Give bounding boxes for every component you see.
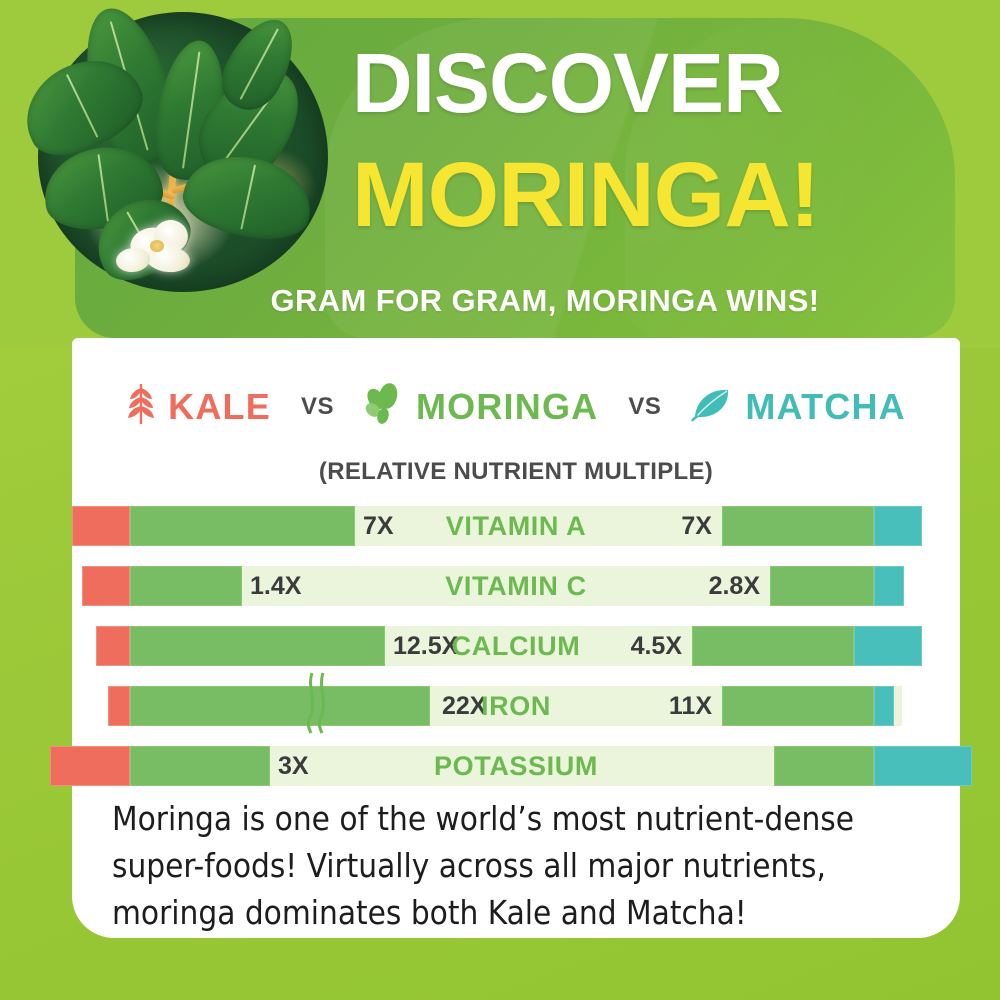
matcha-bar xyxy=(874,506,922,546)
brand-moringa-label: MORINGA xyxy=(416,386,598,428)
moringa-right-bar xyxy=(770,566,874,606)
kale-bar xyxy=(108,686,130,726)
footer-paragraph: Moringa is one of the world’s most nutri… xyxy=(112,796,922,937)
flower-center xyxy=(150,240,164,252)
moringa-right-bar xyxy=(692,626,854,666)
brand-comparison-row: KALE VS MORINGA VS xyxy=(72,382,960,431)
page-title-line2: MORINGA! xyxy=(352,152,819,239)
brand-matcha: MATCHA xyxy=(691,385,906,428)
right-multiple-label: 2.8X xyxy=(610,566,770,606)
kale-leaf-icon xyxy=(126,382,156,431)
chart-row: 22X IRON 11X xyxy=(72,680,960,732)
matcha-bar xyxy=(874,746,972,786)
chart-row: 3X POTASSIUM xyxy=(72,740,960,792)
vs-separator-2: VS xyxy=(628,393,661,421)
kale-bar xyxy=(96,626,130,666)
infographic-root: DISCOVER MORINGA! GRAM FOR GRAM, MORINGA… xyxy=(0,0,1000,1000)
content-card: KALE VS MORINGA VS xyxy=(72,338,960,938)
nutrient-comparison-chart: 7X VITAMIN A 7X 1.4X VITAMIN C 2.8X xyxy=(72,500,960,800)
moringa-right-bar xyxy=(774,746,874,786)
right-multiple-label: 4.5X xyxy=(562,626,692,666)
kale-bar xyxy=(82,566,130,606)
kale-bar xyxy=(50,746,130,786)
right-multiple-label: 7X xyxy=(592,506,722,546)
moringa-plant-photo xyxy=(38,12,328,292)
moringa-right-bar xyxy=(722,506,874,546)
brand-kale-label: KALE xyxy=(168,386,271,428)
matcha-bar xyxy=(854,626,922,666)
relative-nutrient-note: (RELATIVE NUTRIENT MULTIPLE) xyxy=(72,458,960,486)
brand-matcha-label: MATCHA xyxy=(745,386,906,428)
brand-moringa: MORINGA xyxy=(364,383,598,430)
moringa-leaf-icon xyxy=(364,383,404,430)
moringa-right-bar xyxy=(722,686,874,726)
vs-separator-1: VS xyxy=(301,393,334,421)
chart-row: 12.5X CALCIUM 4.5X xyxy=(72,620,960,672)
chart-row: 7X VITAMIN A 7X xyxy=(72,500,960,552)
banner-subhead: GRAM FOR GRAM, MORINGA WINS! xyxy=(0,283,1000,319)
matcha-bar xyxy=(874,686,894,726)
matcha-leaf-icon xyxy=(691,385,733,428)
page-title-line1: DISCOVER xyxy=(352,44,783,124)
right-multiple-label: 11X xyxy=(582,686,722,726)
kale-bar xyxy=(72,506,130,546)
right-multiple-label xyxy=(662,746,742,786)
chart-row: 1.4X VITAMIN C 2.8X xyxy=(72,560,960,612)
matcha-bar xyxy=(874,566,904,606)
brand-kale: KALE xyxy=(126,382,271,431)
